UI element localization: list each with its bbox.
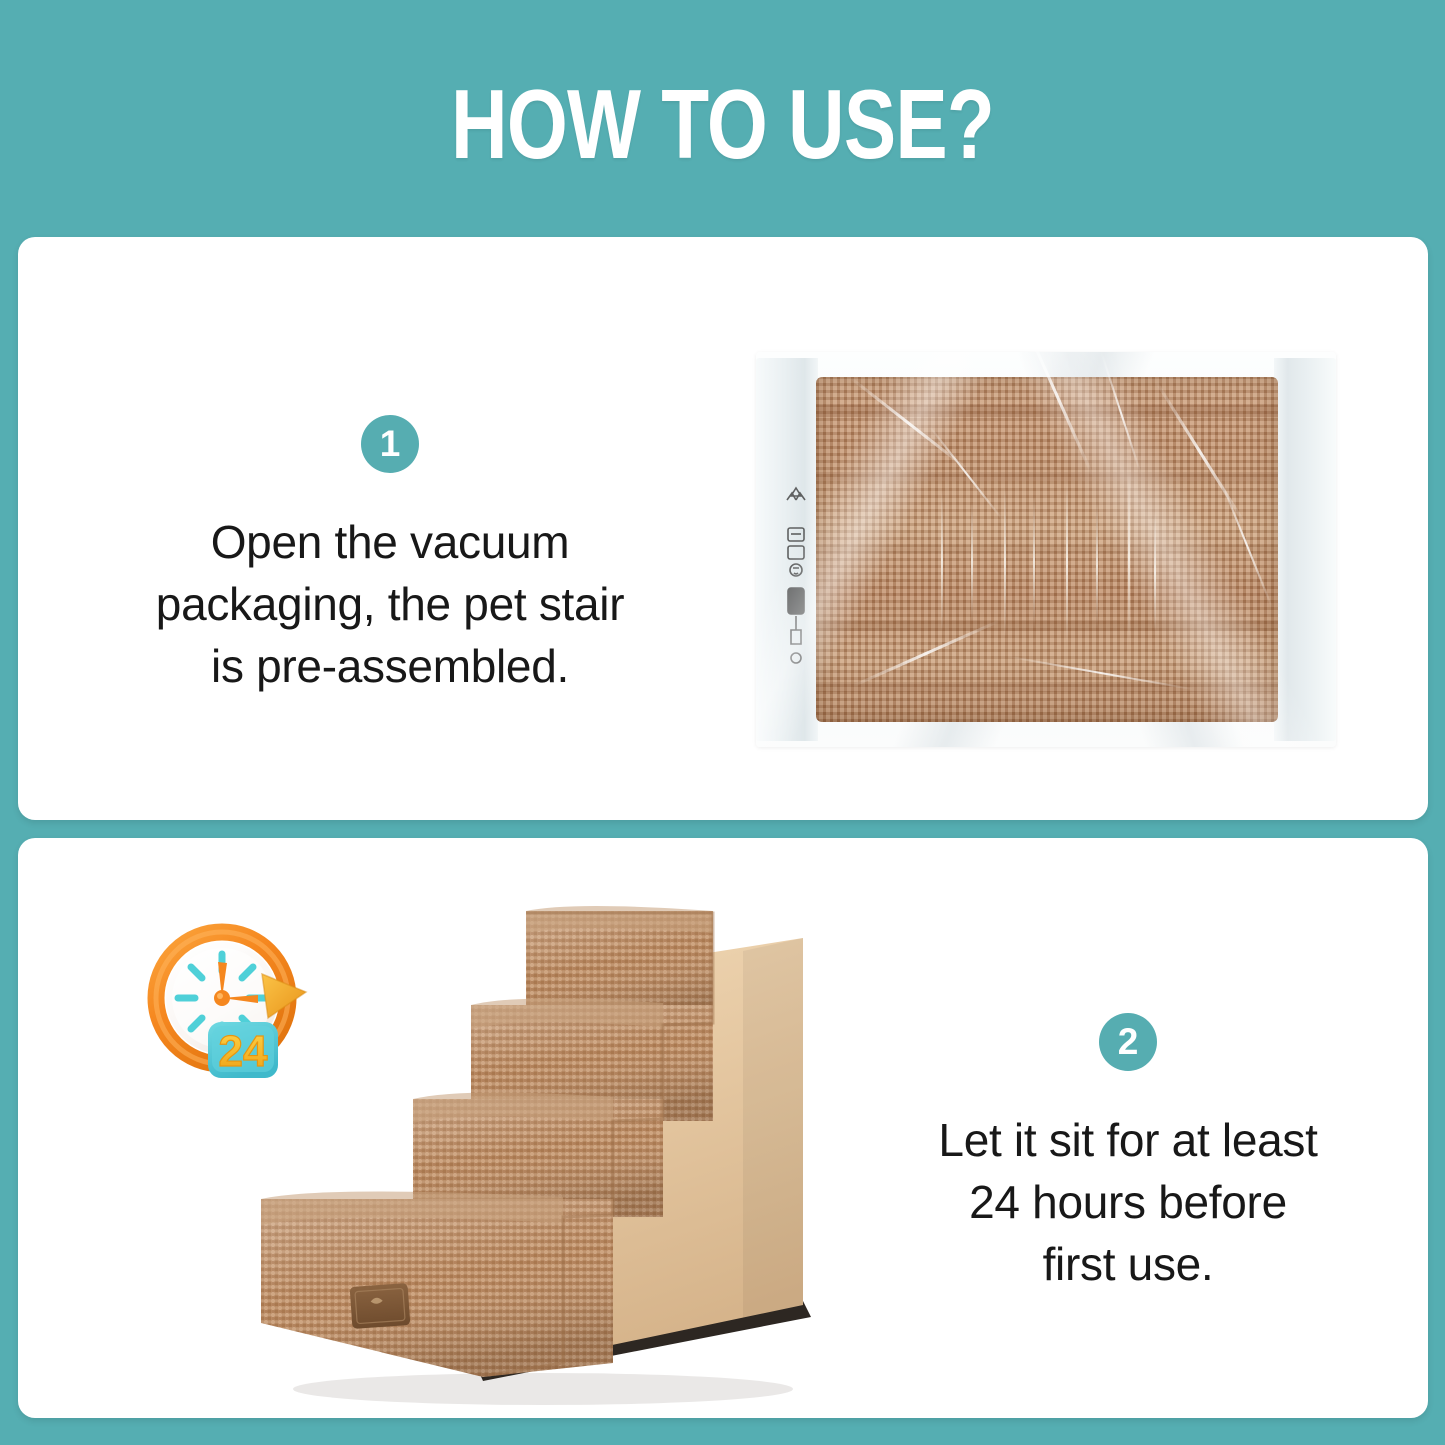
plastic-bag-right-seal [1274,358,1336,741]
step-2-description: Let it sit for at least 24 hours before … [868,1109,1388,1295]
step-2-text-block: 2 Let it sit for at least 24 hours befor… [868,1013,1388,1295]
vacuum-sealed-pet-stair-package-image [756,352,1336,747]
recycle-symbol-icon [783,484,809,674]
step-2-line-3: first use. [868,1233,1388,1295]
step-1-line-3: is pre-assembled. [110,635,670,697]
step-1-description: Open the vacuum packaging, the pet stair… [110,511,670,697]
step-1-line-2: packaging, the pet stair [110,573,670,635]
pet-stairs-product-image [243,893,843,1418]
page-title: HOW TO USE? [145,74,1301,174]
step-2-line-1: Let it sit for at least [868,1109,1388,1171]
step-2-number-badge: 2 [1099,1013,1157,1071]
step-2-line-2: 24 hours before [868,1171,1388,1233]
step-1-line-1: Open the vacuum [110,511,670,573]
brand-leather-tag [350,1283,411,1329]
step-1-number-badge: 1 [361,415,419,473]
step-1-text-block: 1 Open the vacuum packaging, the pet sta… [110,415,670,697]
